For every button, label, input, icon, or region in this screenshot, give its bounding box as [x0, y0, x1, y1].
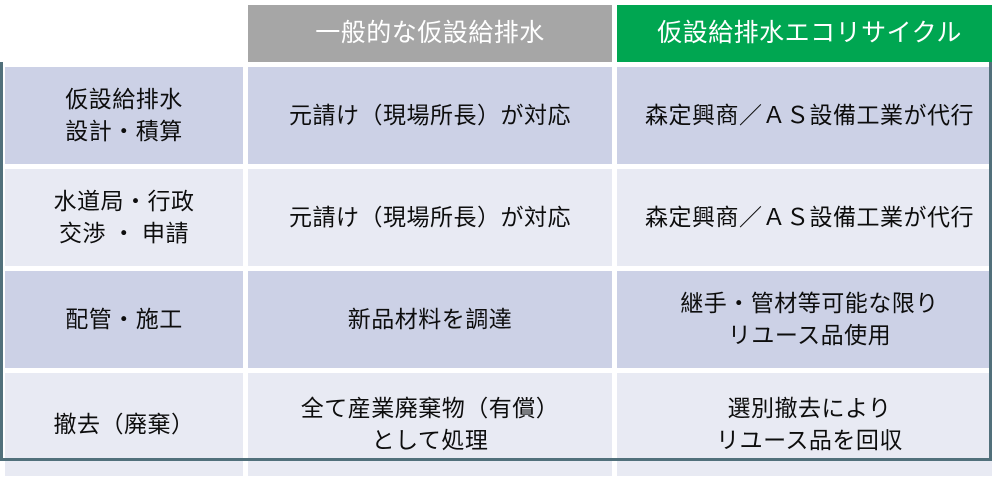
cell-line: リユース品を回収 [625, 425, 992, 457]
row-label-line: 配管・施工 [13, 304, 235, 336]
cell-eco-design: 森定興商／ＡＳ設備工業が代行 [617, 67, 992, 164]
cell-general-waterworks: 元請け（現場所長）が対応 [248, 169, 612, 266]
table-row: 仮設給排水 設計・積算 元請け（現場所長）が対応 森定興商／ＡＳ設備工業が代行 [5, 67, 992, 164]
cell-line: 元請け（現場所長）が対応 [256, 100, 604, 132]
header-general: 一般的な仮設給排水 [248, 5, 612, 62]
row-label-line: 設計・積算 [13, 116, 235, 148]
cell-line: リユース品使用 [625, 320, 992, 352]
row-label-line: 交渉 ・ 申請 [13, 218, 235, 250]
cell-eco-waterworks: 森定興商／ＡＳ設備工業が代行 [617, 169, 992, 266]
table-header: 一般的な仮設給排水 仮設給排水エコリサイクル [5, 5, 992, 62]
table-frame-left [0, 62, 3, 461]
cell-line: 森定興商／ＡＳ設備工業が代行 [625, 202, 992, 234]
table-row: 配管・施工 新品材料を調達 継手・管材等可能な限り リユース品使用 [5, 271, 992, 368]
cell-line: 森定興商／ＡＳ設備工業が代行 [625, 100, 992, 132]
row-label-design: 仮設給排水 設計・積算 [5, 67, 243, 164]
row-label-line: 水道局・行政 [13, 186, 235, 218]
cell-general-piping: 新品材料を調達 [248, 271, 612, 368]
table-row: 水道局・行政 交渉 ・ 申請 元請け（現場所長）が対応 森定興商／ＡＳ設備工業が… [5, 169, 992, 266]
row-label-line: 仮設給排水 [13, 84, 235, 116]
row-label-piping: 配管・施工 [5, 271, 243, 368]
row-label-waterworks: 水道局・行政 交渉 ・ 申請 [5, 169, 243, 266]
cell-line: 全て産業廃棄物（有償） [256, 393, 604, 425]
cell-line: 継手・管材等可能な限り [625, 288, 992, 320]
header-eco: 仮設給排水エコリサイクル [617, 5, 992, 62]
cell-eco-piping: 継手・管材等可能な限り リユース品使用 [617, 271, 992, 368]
cell-line: 新品材料を調達 [256, 304, 604, 336]
header-corner-blank [5, 5, 243, 62]
table-body: 仮設給排水 設計・積算 元請け（現場所長）が対応 森定興商／ＡＳ設備工業が代行 … [5, 67, 992, 476]
cell-line: 選別撤去により [625, 393, 992, 425]
cell-line: 元請け（現場所長）が対応 [256, 202, 604, 234]
header-row: 一般的な仮設給排水 仮設給排水エコリサイクル [5, 5, 992, 62]
row-label-line: 撤去（廃棄） [13, 409, 235, 441]
comparison-table: 一般的な仮設給排水 仮設給排水エコリサイクル 仮設給排水 設計・積算 元請け（現… [0, 0, 992, 481]
comparison-table-container: 一般的な仮設給排水 仮設給排水エコリサイクル 仮設給排水 設計・積算 元請け（現… [0, 0, 992, 461]
cell-general-design: 元請け（現場所長）が対応 [248, 67, 612, 164]
cell-line: として処理 [256, 425, 604, 457]
